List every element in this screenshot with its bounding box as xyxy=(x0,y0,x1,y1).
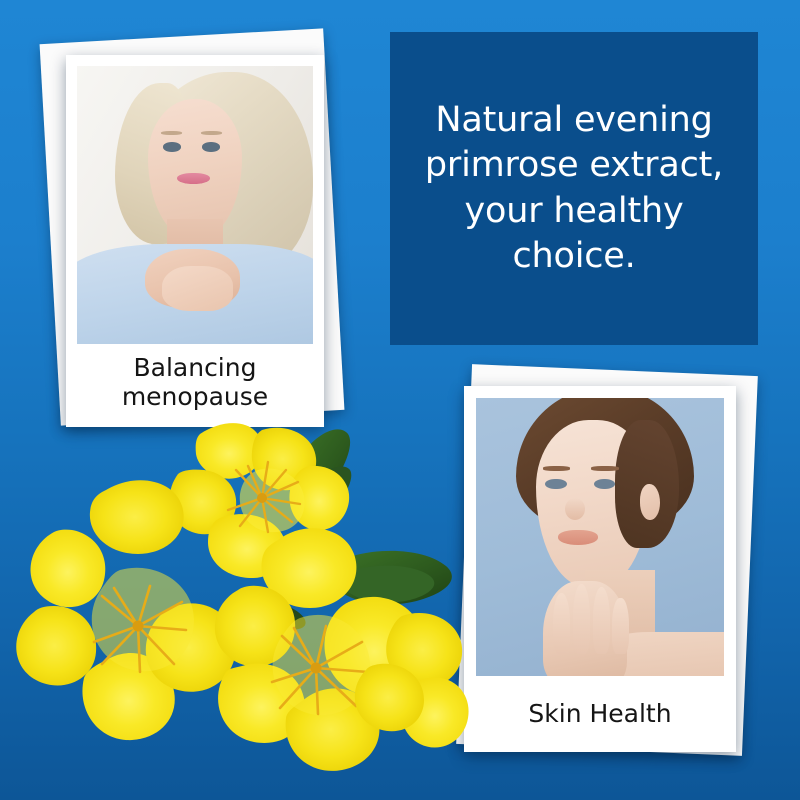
finger xyxy=(593,587,610,654)
finger xyxy=(573,584,590,654)
eye-right xyxy=(202,142,220,151)
lips xyxy=(558,530,598,544)
finger xyxy=(553,593,570,654)
headline-text: Natural evening primrose extract, your h… xyxy=(425,98,723,280)
card-caption-skin-health: Skin Health xyxy=(476,676,724,752)
photo-young-woman xyxy=(476,398,724,676)
eye-left xyxy=(163,142,181,151)
evening-primrose-flowers-image xyxy=(10,420,470,790)
card-balancing-menopause: Balancing menopause xyxy=(44,34,334,424)
photo-mature-woman xyxy=(77,66,313,344)
headline-panel: Natural evening primrose extract, your h… xyxy=(390,32,758,345)
ear xyxy=(640,484,660,520)
card-caption-menopause: Balancing menopause xyxy=(77,344,313,427)
face xyxy=(148,99,242,238)
card-front-sheet: Skin Health xyxy=(464,386,736,752)
card-skin-health: Skin Health xyxy=(452,366,752,760)
product-advertisement-poster: Natural evening primrose extract, your h… xyxy=(0,0,800,800)
eye-left xyxy=(545,479,566,490)
eyebrow-right xyxy=(591,466,618,470)
card-front-sheet: Balancing menopause xyxy=(66,55,324,427)
eye-right xyxy=(594,479,615,490)
eyebrow-left xyxy=(543,466,570,470)
finger xyxy=(612,598,628,654)
hands-upper xyxy=(162,266,233,310)
